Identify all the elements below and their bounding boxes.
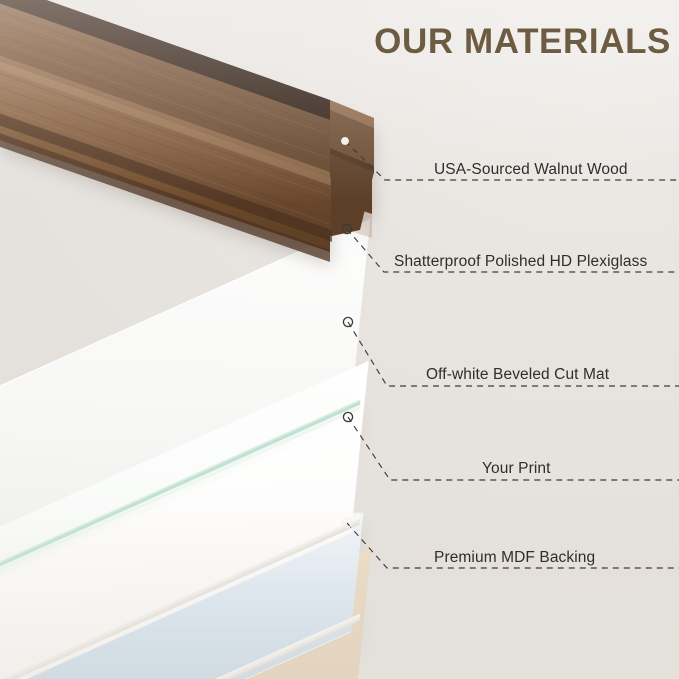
background-vignette (0, 0, 679, 679)
product-materials-infographic: OUR MATERIALS USA-Sourced Walnut Wood Sh… (0, 0, 679, 679)
page-title: OUR MATERIALS (374, 22, 671, 62)
